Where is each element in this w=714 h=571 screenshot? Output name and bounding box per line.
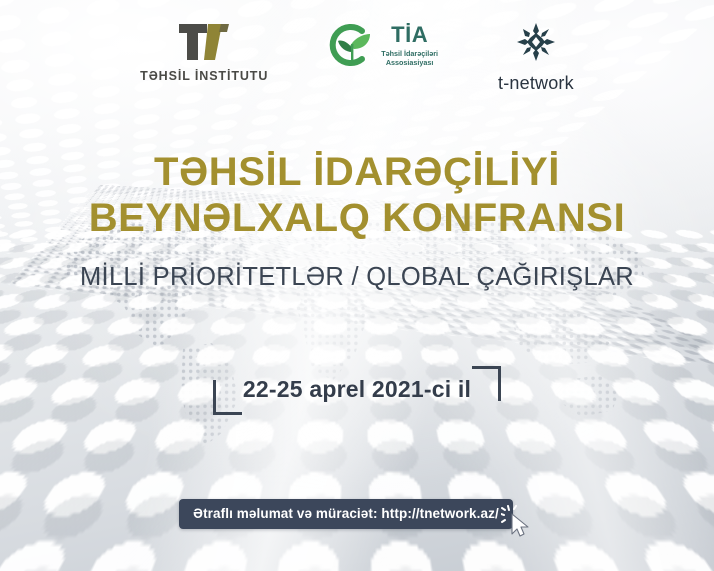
logo-tia: TİA Təhsil İdarəçiləri Assosiasiyası (328, 22, 438, 68)
logo-tia-subline-2: Assosiasiyası (386, 58, 434, 67)
logo-tia-text: TİA Təhsil İdarəçiləri Assosiasiyası (381, 24, 438, 67)
logo-t-network: t-network (498, 22, 574, 94)
ti-monogram-icon (177, 22, 231, 62)
logo-t-network-label: t-network (498, 73, 574, 94)
footer-block: Ətraflı məlumat və müraciət: http://tnet… (0, 499, 714, 539)
leaf-circle-icon (328, 22, 374, 68)
headline-block: TƏHSİL İDARƏÇİLİYİ BEYNƏLXALQ KONFRANSI … (0, 150, 714, 292)
compass-star-icon (516, 22, 556, 62)
logo-tia-label: TİA (391, 24, 428, 46)
event-date: 22-25 aprel 2021-ci il (243, 376, 471, 402)
date-bracket-box: 22-25 aprel 2021-ci il (213, 372, 501, 407)
logo-row: TƏHSİL İNSTİTUTU TİA Təhsil İdarəçiləri … (0, 22, 714, 94)
logo-tia-subline: Təhsil İdarəçiləri Assosiasiyası (381, 49, 438, 67)
page-title-line-1: TƏHSİL İDARƏÇİLİYİ (154, 150, 560, 194)
logo-tehsil-institutu: TƏHSİL İNSTİTUTU (140, 22, 268, 83)
bracket-left-icon (213, 380, 242, 415)
logo-tehsil-institutu-label: TƏHSİL İNSTİTUTU (140, 69, 268, 83)
page-subtitle: MİLLİ PRİORİTETLƏR / QLOBAL ÇAĞIRIŞLAR (0, 263, 714, 292)
conference-poster: TƏHSİL İNSTİTUTU TİA Təhsil İdarəçiləri … (0, 0, 714, 571)
page-title: TƏHSİL İDARƏÇİLİYİ BEYNƏLXALQ KONFRANSI (0, 150, 714, 241)
date-block: 22-25 aprel 2021-ci il (0, 372, 714, 407)
logo-tia-subline-1: Təhsil İdarəçiləri (381, 49, 438, 58)
bracket-right-icon (472, 366, 501, 401)
registration-link-pill[interactable]: Ətraflı məlumat və müraciət: http://tnet… (179, 499, 513, 529)
click-cursor-icon (501, 505, 535, 539)
page-title-line-2: BEYNƏLXALQ KONFRANSI (26, 196, 688, 242)
